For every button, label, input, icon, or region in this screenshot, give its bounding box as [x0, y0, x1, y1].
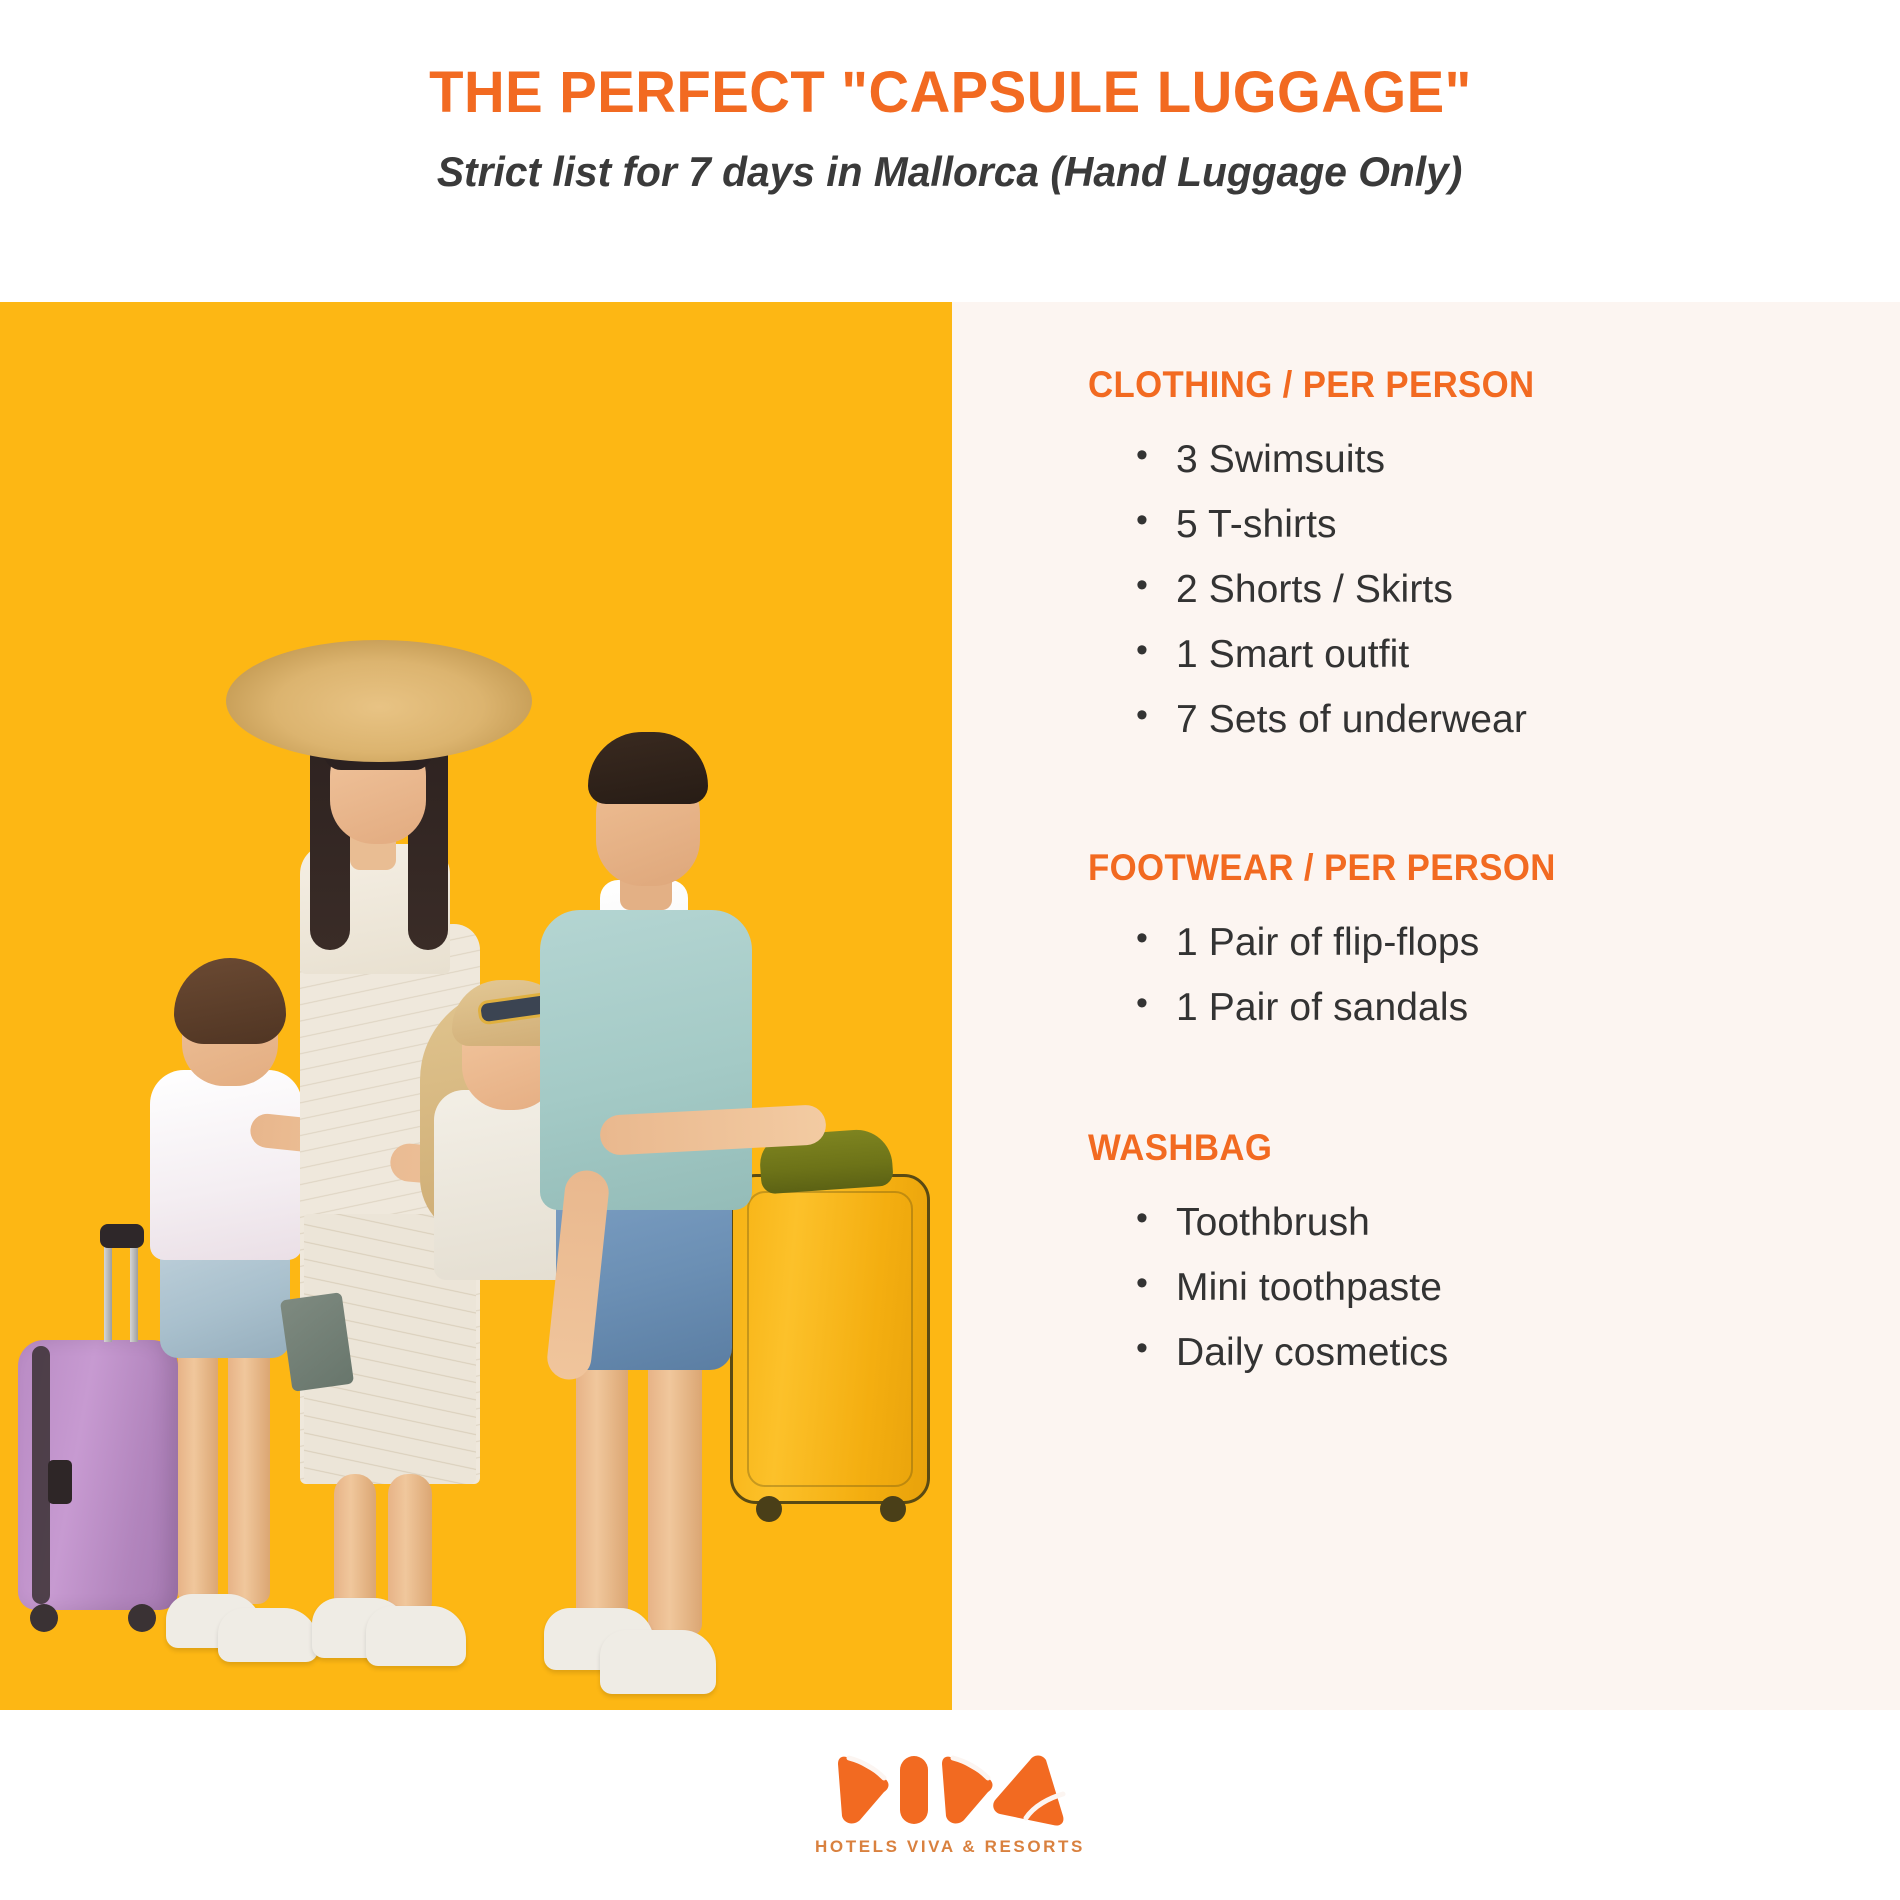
section-heading-clothing: CLOTHING / PER PERSON	[1088, 364, 1814, 406]
father-teal-shirt	[540, 910, 752, 1210]
mother-sneaker-icon	[366, 1606, 466, 1666]
mother-legs	[330, 1474, 448, 1614]
page-footer: HOTELS VIVA & RESORTS	[0, 1710, 1900, 1900]
viva-logo-icon[interactable]	[834, 1754, 1066, 1828]
older-girl-legs	[172, 1324, 280, 1604]
yellow-suitcase-wheel-icon	[756, 1496, 782, 1522]
page-title: THE PERFECT "CAPSULE LUGGAGE"	[429, 62, 1472, 125]
section-heading-washbag: WASHBAG	[1088, 1127, 1814, 1169]
list-item: 3 Swimsuits	[1136, 440, 1860, 479]
father-hair	[588, 732, 708, 804]
list-item: Daily cosmetics	[1136, 1333, 1860, 1372]
older-girl-hair	[174, 958, 286, 1044]
list-item: 1 Smart outfit	[1136, 635, 1860, 674]
father-legs	[572, 1336, 712, 1636]
family-photo	[0, 302, 952, 1710]
packing-list-pane: CLOTHING / PER PERSON 3 Swimsuits 5 T-sh…	[952, 302, 1900, 1710]
main-panel: CLOTHING / PER PERSON 3 Swimsuits 5 T-sh…	[0, 302, 1900, 1710]
logo-tagline: HOTELS VIVA & RESORTS	[815, 1837, 1085, 1857]
list-item: 1 Pair of flip-flops	[1136, 923, 1860, 962]
footwear-item-list: 1 Pair of flip-flops 1 Pair of sandals	[1088, 923, 1860, 1027]
purple-suitcase-icon	[18, 1340, 178, 1610]
section-clothing: CLOTHING / PER PERSON 3 Swimsuits 5 T-sh…	[1088, 364, 1860, 739]
page-subtitle: Strict list for 7 days in Mallorca (Hand…	[437, 149, 1462, 195]
father-sneaker-icon	[600, 1630, 716, 1694]
passport-icon	[280, 1292, 354, 1392]
page-header: THE PERFECT "CAPSULE LUGGAGE" Strict lis…	[0, 0, 1900, 302]
washbag-item-list: Toothbrush Mini toothpaste Daily cosmeti…	[1088, 1203, 1860, 1372]
purple-suitcase-handle-icon	[100, 1224, 144, 1342]
list-item: 1 Pair of sandals	[1136, 988, 1860, 1027]
purple-suitcase-wheel-icon	[128, 1604, 156, 1632]
list-item: 2 Shorts / Skirts	[1136, 570, 1860, 609]
clothing-item-list: 3 Swimsuits 5 T-shirts 2 Shorts / Skirts…	[1088, 440, 1860, 739]
older-girl-tshirt	[150, 1070, 302, 1260]
yellow-suitcase-icon	[730, 1174, 930, 1504]
straw-sun-hat-icon	[226, 640, 532, 762]
list-item: 5 T-shirts	[1136, 505, 1860, 544]
yellow-suitcase-wheel-icon	[880, 1496, 906, 1522]
older-girl-sneaker-icon	[218, 1608, 318, 1662]
section-footwear: FOOTWEAR / PER PERSON 1 Pair of flip-flo…	[1088, 847, 1860, 1027]
list-item: Mini toothpaste	[1136, 1268, 1860, 1307]
purple-suitcase-wheel-icon	[30, 1604, 58, 1632]
list-item: Toothbrush	[1136, 1203, 1860, 1242]
section-washbag: WASHBAG Toothbrush Mini toothpaste Daily…	[1088, 1127, 1860, 1372]
section-heading-footwear: FOOTWEAR / PER PERSON	[1088, 847, 1814, 889]
list-item: 7 Sets of underwear	[1136, 700, 1860, 739]
